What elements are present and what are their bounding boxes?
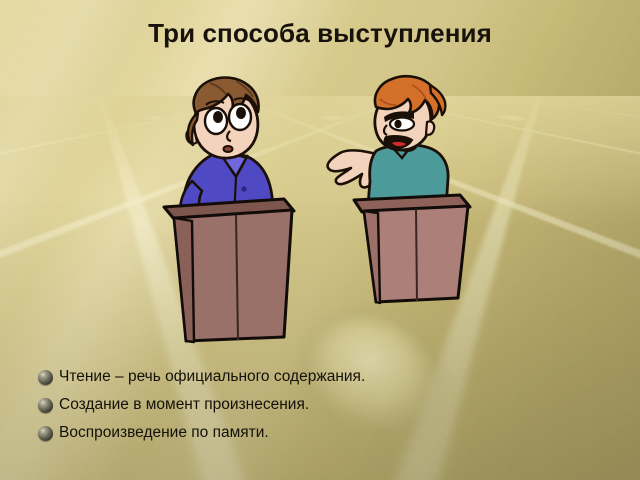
- presentation-slide: Три способа выступления: [0, 0, 640, 480]
- list-item-label: Создание в момент произнесения.: [59, 397, 309, 413]
- list-item-label: Чтение – речь официального содержания.: [59, 369, 365, 385]
- sphere-bullet-icon: [38, 398, 53, 413]
- angry-speaker-figure: [328, 76, 449, 207]
- list-item: Воспроизведение по памяти.: [38, 419, 598, 447]
- sphere-bullet-icon: [38, 370, 53, 385]
- page-title: Три способа выступления: [0, 18, 640, 49]
- list-item: Чтение – речь официального содержания.: [38, 363, 598, 391]
- list-item: Создание в момент произнесения.: [38, 391, 598, 419]
- podium-right: [354, 195, 470, 303]
- podium-left: [164, 199, 294, 342]
- bullet-list: Чтение – речь официального содержания. С…: [38, 363, 598, 447]
- speakers-illustration: [140, 55, 520, 355]
- list-item-label: Воспроизведение по памяти.: [59, 425, 269, 441]
- sphere-bullet-icon: [38, 426, 53, 441]
